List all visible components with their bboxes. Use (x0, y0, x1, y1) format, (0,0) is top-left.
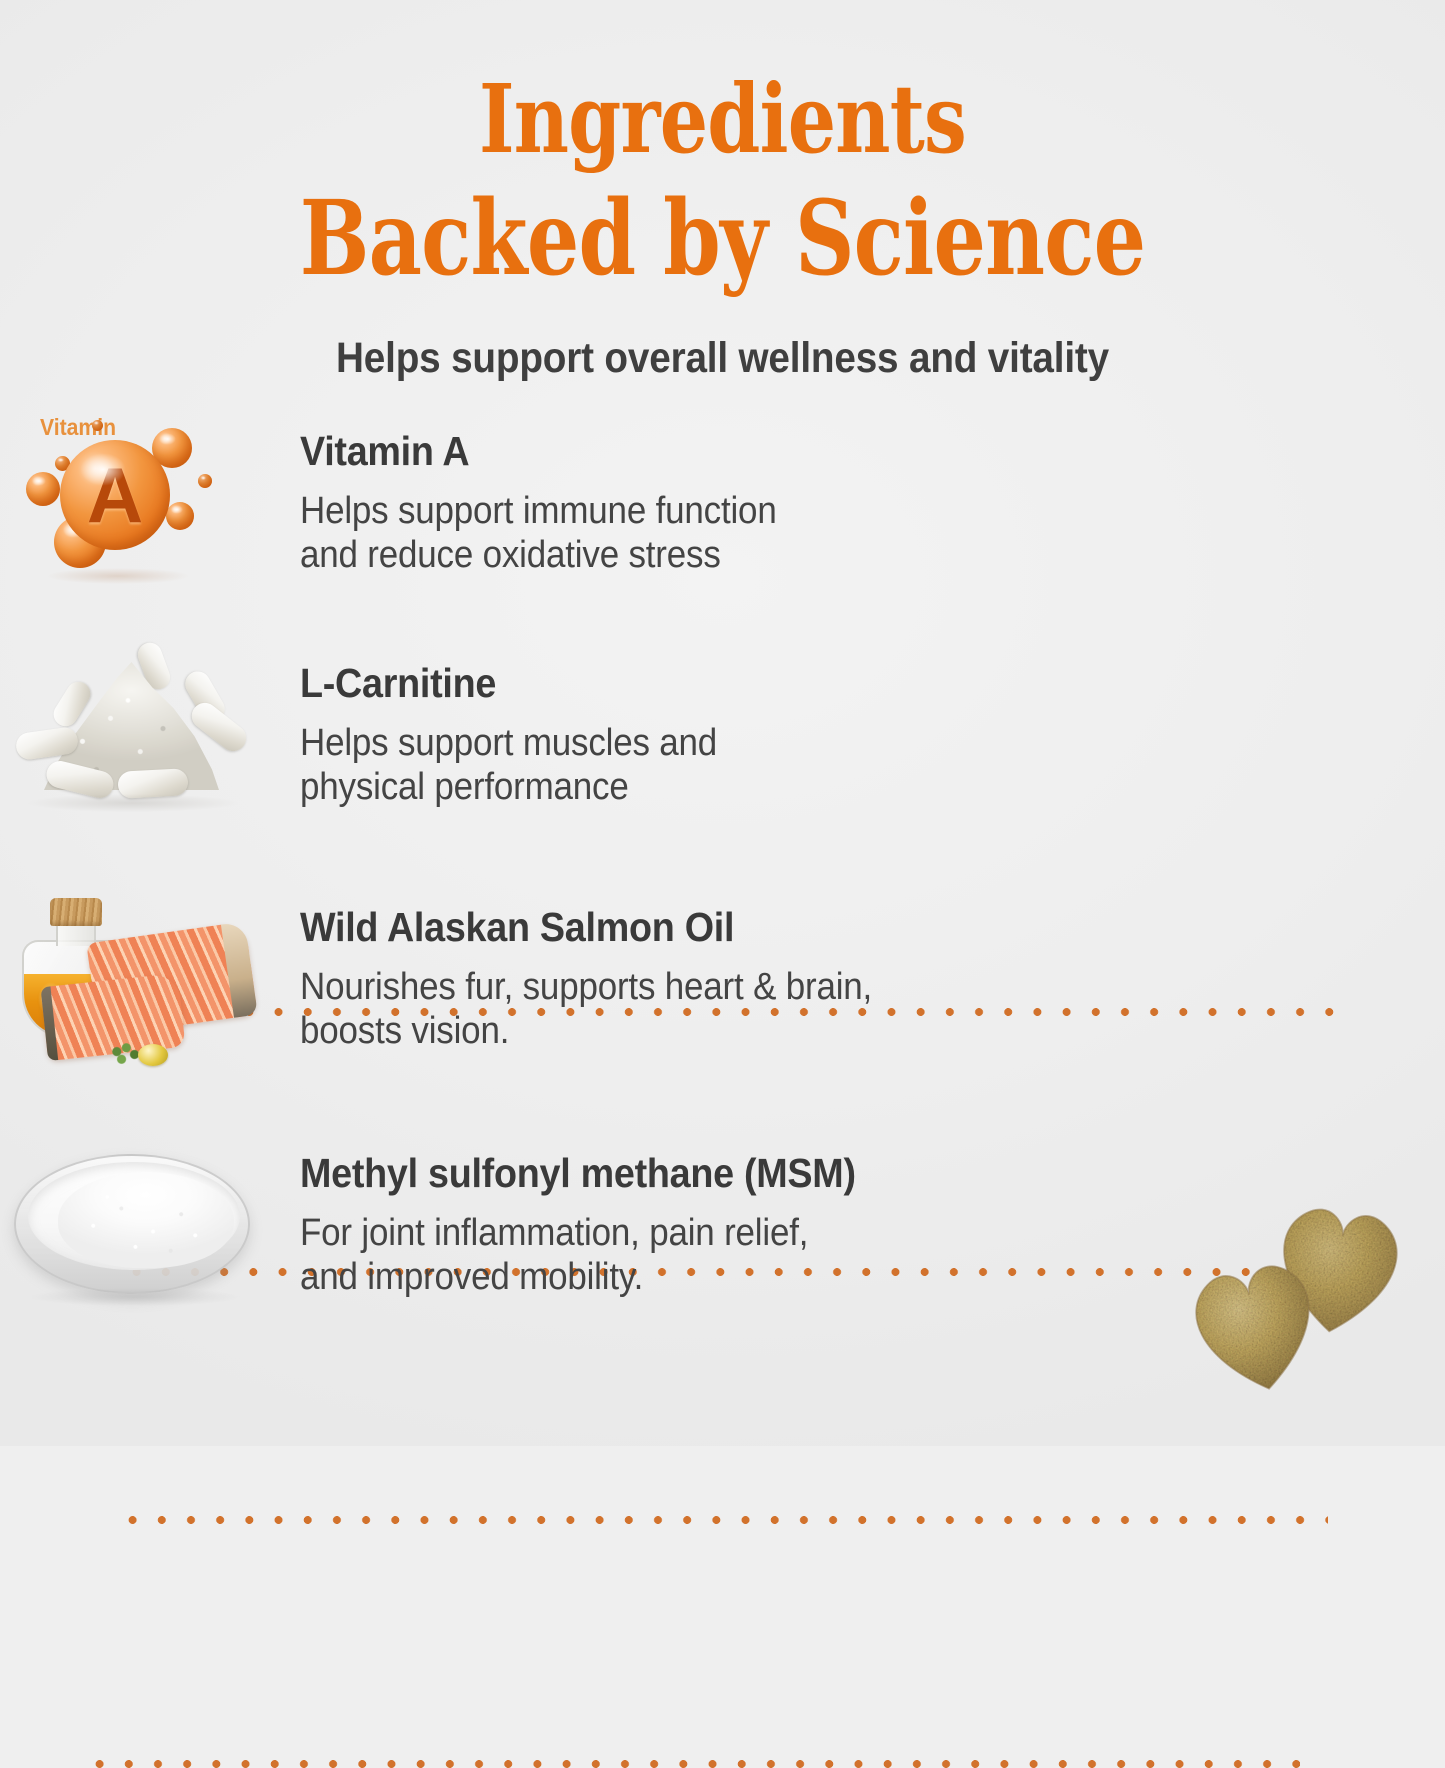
ingredient-row-vitamin-a: Vitamin A Vitamin A Helps support immun (0, 408, 1445, 598)
softgel-capsule-icon (138, 1044, 168, 1066)
header: Ingredients Backed by Science Helps supp… (0, 0, 1445, 383)
ingredient-description: Helps support muscles and physical perfo… (300, 721, 717, 810)
salmon-oil-icon (6, 884, 276, 1074)
bubble-icon (26, 472, 60, 506)
cork-icon (50, 898, 102, 926)
vitamin-a-thumbnail: Vitamin A (0, 408, 300, 613)
msm-petri-dish-icon (14, 1138, 264, 1313)
ingredient-description: Nourishes fur, supports heart & brain, b… (300, 965, 872, 1054)
petri-dish-glass (14, 1154, 250, 1294)
drop-shadow (48, 568, 188, 584)
page-title-line1: Ingredients (145, 0, 1301, 167)
bubble-icon (92, 420, 103, 431)
bubble-icon (166, 502, 194, 530)
infographic-page: Ingredients Backed by Science Helps supp… (0, 0, 1445, 1446)
vitamin-a-bubble-icon: Vitamin A (8, 410, 248, 595)
ingredient-name: Wild Alaskan Salmon Oil (300, 904, 872, 951)
heart-shaped-dog-treats (1179, 1192, 1445, 1442)
dotted-divider (118, 1516, 1328, 1524)
ingredient-row-l-carnitine: L-Carnitine Helps support muscles and ph… (0, 598, 1445, 848)
msm-copy: Methyl sulfonyl methane (MSM) For joint … (300, 1130, 904, 1300)
msm-powder (58, 1172, 234, 1268)
msm-thumbnail (0, 1130, 300, 1335)
vitamin-a-letter: A (60, 440, 170, 550)
ingredient-description: For joint inflammation, pain relief, and… (300, 1211, 856, 1300)
drop-shadow (28, 794, 238, 812)
dotted-divider (85, 1760, 1300, 1768)
l-carnitine-thumbnail (0, 640, 300, 845)
page-title-line2: Backed by Science (145, 167, 1301, 290)
l-carnitine-copy: L-Carnitine Helps support muscles and ph… (300, 640, 753, 810)
ingredient-name: L-Carnitine (300, 660, 717, 707)
ingredient-row-salmon-oil: Wild Alaskan Salmon Oil Nourishes fur, s… (0, 848, 1445, 1096)
salmon-skin (221, 921, 258, 1017)
salmon-oil-copy: Wild Alaskan Salmon Oil Nourishes fur, s… (300, 884, 922, 1054)
page-title: Ingredients Backed by Science (145, 0, 1301, 290)
ingredient-name: Methyl sulfonyl methane (MSM) (300, 1150, 856, 1197)
l-carnitine-powder-icon (10, 648, 265, 823)
ingredient-description: Helps support immune function and reduce… (300, 489, 777, 578)
drop-shadow (30, 1288, 240, 1306)
bubble-icon (198, 474, 212, 488)
vitamin-label: Vitamin (40, 414, 116, 441)
vitamin-a-copy: Vitamin A Helps support immune function … (300, 408, 818, 578)
salmon-oil-thumbnail (0, 884, 300, 1089)
vitamin-a-main-bubble-icon: A (60, 440, 170, 550)
petri-dish-inner (28, 1162, 240, 1270)
heart-treat-icon (1167, 1238, 1345, 1416)
page-subtitle: Helps support overall wellness and vital… (72, 334, 1373, 383)
ingredient-name: Vitamin A (300, 428, 777, 475)
